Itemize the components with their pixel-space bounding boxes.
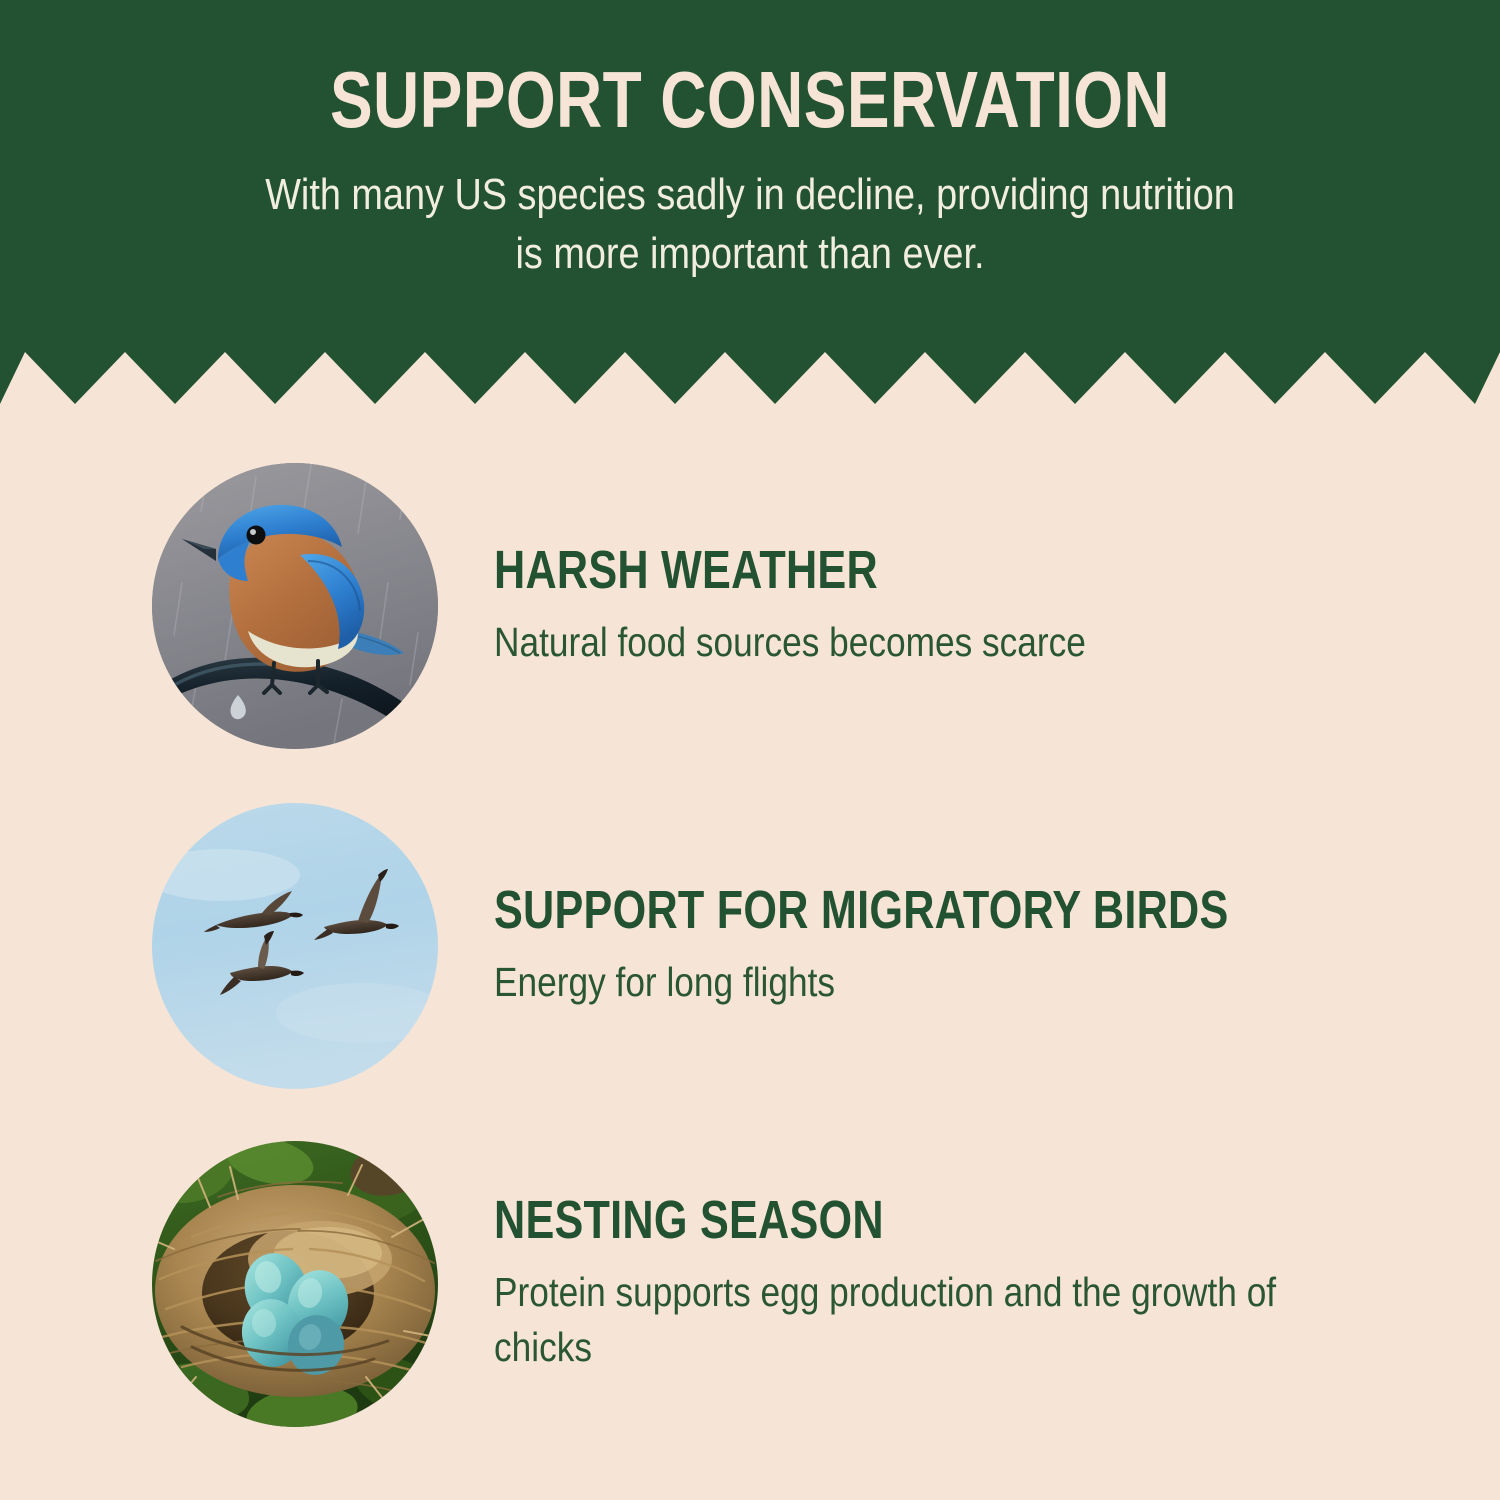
feature-description-nesting-season: Protein supports egg production and the … (494, 1265, 1308, 1374)
feature-text-nesting-season: NESTING SEASON Protein supports egg prod… (494, 1193, 1500, 1374)
nest-with-eggs-illustration (152, 1141, 438, 1427)
feature-title-migratory-birds: SUPPORT FOR MIGRATORY BIRDS (494, 883, 1251, 937)
feature-description-migratory-birds: Energy for long flights (494, 955, 1308, 1010)
header-content: SUPPORT CONSERVATION With many US specie… (0, 0, 1500, 283)
feature-title-nesting-season: NESTING SEASON (494, 1193, 1251, 1247)
page-title: SUPPORT CONSERVATION (150, 62, 1350, 138)
page-subtitle: With many US species sadly in decline, p… (264, 166, 1236, 283)
feature-list: HARSH WEATHER Natural food sources becom… (0, 404, 1500, 1500)
feature-row-nesting-season: NESTING SEASON Protein supports egg prod… (0, 1134, 1500, 1434)
feature-row-migratory-birds: SUPPORT FOR MIGRATORY BIRDS Energy for l… (0, 796, 1500, 1096)
feature-image-nesting-season (152, 1141, 438, 1427)
feature-image-harsh-weather (152, 463, 438, 749)
flying-birds-illustration (152, 803, 438, 1089)
feature-image-migratory-birds (152, 803, 438, 1089)
feature-title-harsh-weather: HARSH WEATHER (494, 543, 1251, 597)
feature-description-harsh-weather: Natural food sources becomes scarce (494, 615, 1308, 670)
feature-text-migratory-birds: SUPPORT FOR MIGRATORY BIRDS Energy for l… (494, 883, 1500, 1010)
feature-text-harsh-weather: HARSH WEATHER Natural food sources becom… (494, 543, 1500, 670)
feature-row-harsh-weather: HARSH WEATHER Natural food sources becom… (0, 456, 1500, 756)
bluebird-in-rain-illustration (152, 463, 438, 749)
